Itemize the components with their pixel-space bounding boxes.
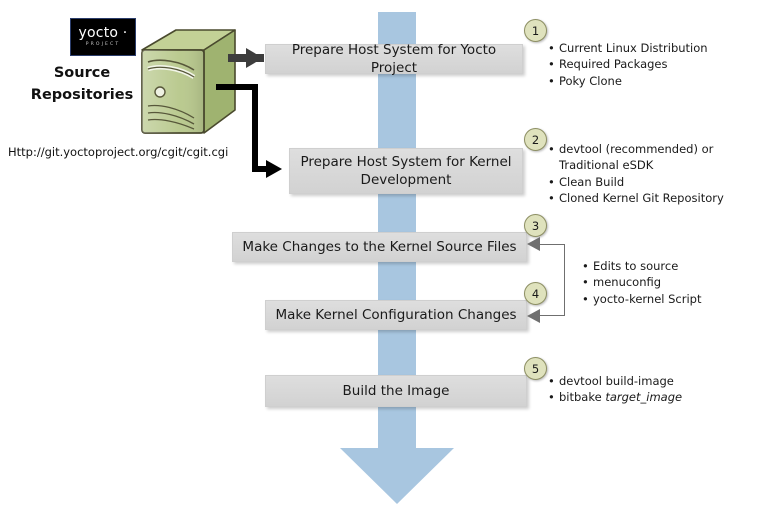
step-1-box-text: Prepare Host System for Yocto Project	[272, 41, 516, 77]
list-item: Clean Build	[548, 174, 724, 190]
steps-3-4-shared-bullet-list: Edits to source menuconfig yocto-kernel …	[582, 258, 702, 307]
workflow-diagram-canvas: yocto · PROJECT Source Repositories Http…	[0, 0, 769, 517]
connector-server-to-step2-arrowhead	[266, 160, 282, 178]
step-5-bullet-list: devtool build-image bitbake target_image	[548, 373, 682, 406]
step-2-box[interactable]: Prepare Host System for Kernel Developme…	[289, 148, 523, 194]
list-item: Edits to source	[582, 258, 702, 274]
step-5-number-badge: 5	[524, 357, 547, 380]
step-5-box-text: Build the Image	[343, 382, 450, 400]
list-item-continuation: Traditional eSDK	[548, 157, 724, 173]
list-item: Poky Clone	[548, 73, 708, 89]
list-item: Required Packages	[548, 56, 708, 72]
logo-subtitle: PROJECT	[86, 43, 121, 48]
step-4-box[interactable]: Make Kernel Configuration Changes	[265, 300, 527, 330]
main-flow-arrow-head	[340, 448, 454, 504]
source-repositories-label: Source Repositories	[22, 62, 142, 107]
list-item: devtool build-image	[548, 373, 682, 389]
list-item: devtool (recommended) or	[548, 141, 724, 157]
bracket-steps-3-4	[529, 244, 565, 316]
step-1-bullet-list: Current Linux Distribution Required Pack…	[548, 40, 708, 89]
list-item: Cloned Kernel Git Repository	[548, 190, 724, 206]
step-1-box[interactable]: Prepare Host System for Yocto Project	[265, 44, 523, 74]
source-label-line1: Source	[22, 62, 142, 84]
list-item: bitbake target_image	[548, 389, 682, 405]
step-2-bullet-list: devtool (recommended) or Traditional eSD…	[548, 141, 724, 206]
step-2-box-text: Prepare Host System for Kernel Developme…	[296, 153, 516, 189]
logo-wordmark: yocto ·	[79, 26, 128, 40]
bracket-arrowhead-step3	[527, 237, 540, 251]
step-3-box-text: Make Changes to the Kernel Source Files	[242, 238, 516, 256]
step-2-number-badge: 2	[524, 128, 547, 151]
list-item-text: devtool build-image	[559, 374, 674, 388]
list-item-emphasis: target_image	[605, 390, 682, 404]
connector-server-to-step2-segment-v	[252, 84, 258, 172]
step-3-number-badge: 3	[524, 214, 547, 237]
step-2-number: 2	[532, 133, 539, 147]
step-3-box[interactable]: Make Changes to the Kernel Source Files	[232, 232, 527, 262]
step-5-number: 5	[532, 362, 539, 376]
list-item: Current Linux Distribution	[548, 40, 708, 56]
step-1-number-badge: 1	[524, 19, 547, 42]
connector-server-to-step1-arrowhead	[246, 48, 263, 68]
list-item: menuconfig	[582, 274, 702, 290]
step-1-number: 1	[532, 24, 539, 38]
yocto-project-logo: yocto · PROJECT	[70, 18, 136, 56]
step-5-box[interactable]: Build the Image	[265, 375, 527, 407]
list-item-text: bitbake	[559, 390, 605, 404]
source-repository-url: Http://git.yoctoproject.org/cgit/cgit.cg…	[8, 145, 228, 159]
step-4-box-text: Make Kernel Configuration Changes	[275, 306, 516, 324]
bracket-arrowhead-step4	[527, 309, 540, 323]
list-item: yocto-kernel Script	[582, 291, 702, 307]
step-3-number: 3	[532, 219, 539, 233]
source-label-line2: Repositories	[22, 84, 142, 106]
